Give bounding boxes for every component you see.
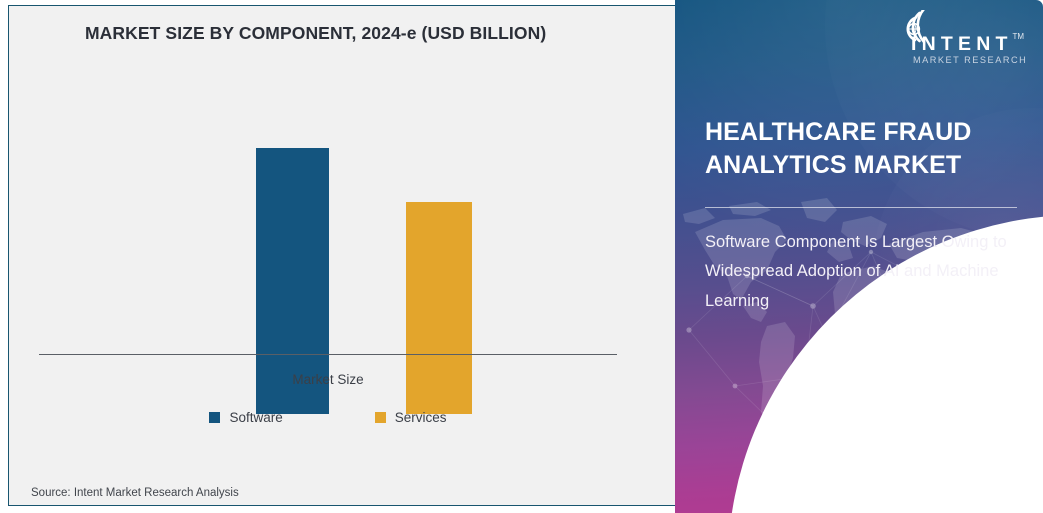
panel-content: INTENT TM MARKET RESEARCH HEALTHCARE FRA… — [675, 0, 1043, 513]
x-axis-label: Market Size — [39, 372, 617, 387]
chart-card: MARKET SIZE BY COMPONENT, 2024-e (USD BI… — [8, 5, 676, 506]
source-note: Source: Intent Market Research Analysis — [31, 487, 239, 499]
legend-item-software: Software — [209, 410, 282, 425]
legend-swatch-services — [375, 412, 386, 423]
brand-wordmark: INTENT — [911, 33, 1013, 56]
chart-title: MARKET SIZE BY COMPONENT, 2024-e (USD BI… — [85, 23, 546, 44]
legend-label-services: Services — [395, 410, 447, 425]
panel-subtitle: Software Component Is Largest Owing to W… — [705, 228, 1017, 316]
plot-area — [39, 66, 647, 361]
chart-legend: Software Services — [39, 410, 617, 425]
screenshot-root: MARKET SIZE BY COMPONENT, 2024-e (USD BI… — [0, 0, 1043, 513]
panel-divider — [705, 207, 1017, 208]
bar-group — [69, 116, 647, 414]
brand-tagline: MARKET RESEARCH — [913, 55, 1027, 65]
x-axis-line — [39, 354, 617, 355]
legend-label-software: Software — [229, 410, 282, 425]
legend-swatch-software — [209, 412, 220, 423]
panel-title: HEALTHCARE FRAUD ANALYTICS MARKET — [705, 116, 1015, 181]
info-panel: INTENT TM MARKET RESEARCH HEALTHCARE FRA… — [675, 0, 1043, 513]
legend-item-services: Services — [375, 410, 447, 425]
brand-logo: INTENT TM MARKET RESEARCH — [891, 10, 1025, 68]
trademark-symbol: TM — [1012, 32, 1024, 41]
